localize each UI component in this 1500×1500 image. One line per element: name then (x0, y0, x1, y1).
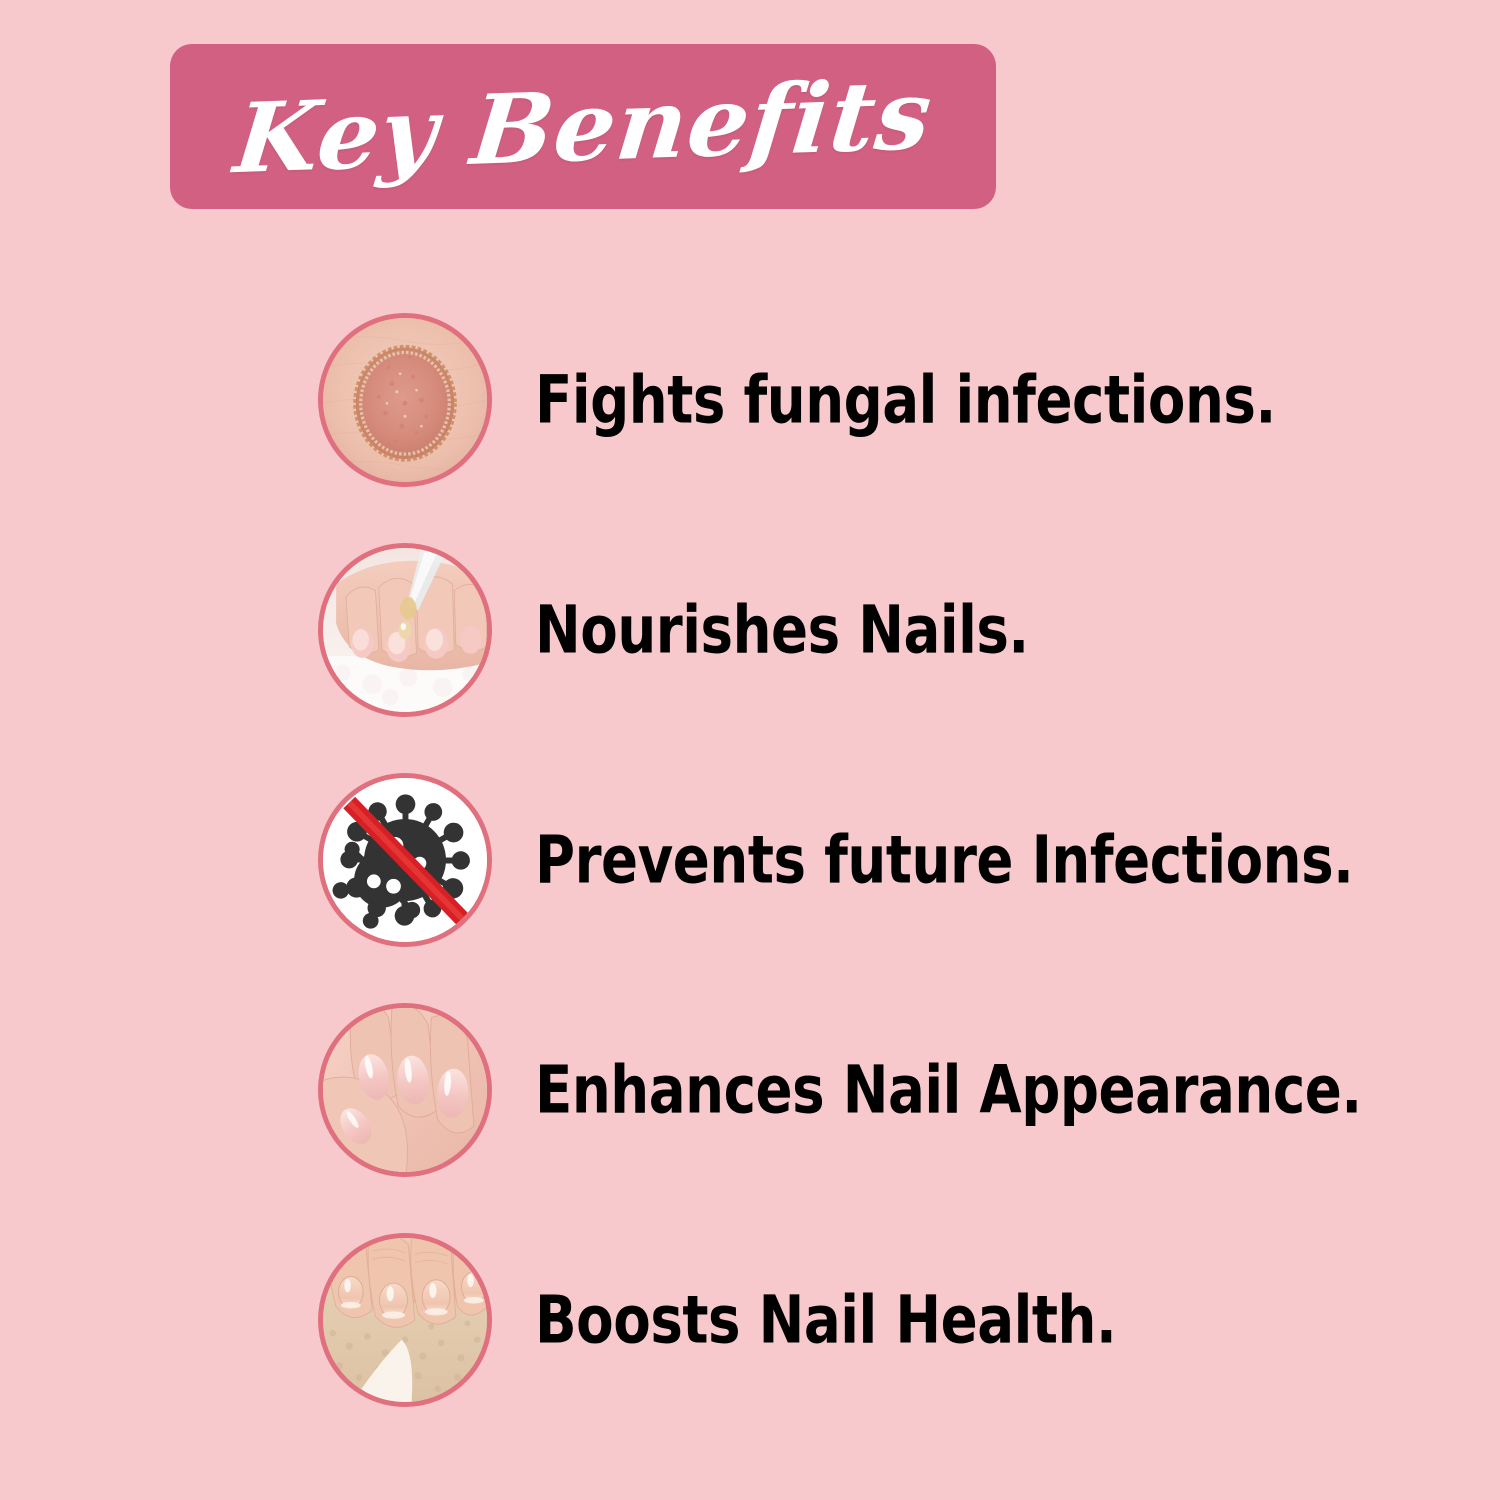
header-banner: Key Benefits (170, 44, 996, 209)
benefit-icon-circle (318, 543, 492, 717)
nail-serum-dropper-photo-icon (323, 548, 487, 712)
benefit-label: Boosts Nail Health. (535, 1285, 1116, 1354)
benefit-label: Enhances Nail Appearance. (535, 1055, 1362, 1124)
benefits-list: Fights fungal infections. (0, 285, 1500, 1435)
benefit-row: Prevents future Infections. (0, 745, 1500, 975)
benefit-icon-circle (318, 1003, 492, 1177)
benefit-row: Nourishes Nails. (0, 515, 1500, 745)
natural-nails-towel-photo-icon (323, 1238, 487, 1402)
fungal-infection-photo-icon (323, 318, 487, 482)
page-title: Key Benefits (230, 66, 936, 186)
benefit-row: Boosts Nail Health. (0, 1205, 1500, 1435)
benefit-icon-circle (318, 313, 492, 487)
benefit-label: Fights fungal infections. (535, 365, 1276, 434)
benefit-row: Enhances Nail Appearance. (0, 975, 1500, 1205)
benefit-row: Fights fungal infections. (0, 285, 1500, 515)
glossy-manicured-nails-photo-icon (323, 1008, 487, 1172)
benefit-label: Nourishes Nails. (535, 595, 1029, 664)
benefit-icon-circle (318, 1233, 492, 1407)
benefit-label: Prevents future Infections. (535, 825, 1353, 894)
benefit-icon-circle (318, 773, 492, 947)
no-germs-prohibited-icon (323, 778, 487, 942)
